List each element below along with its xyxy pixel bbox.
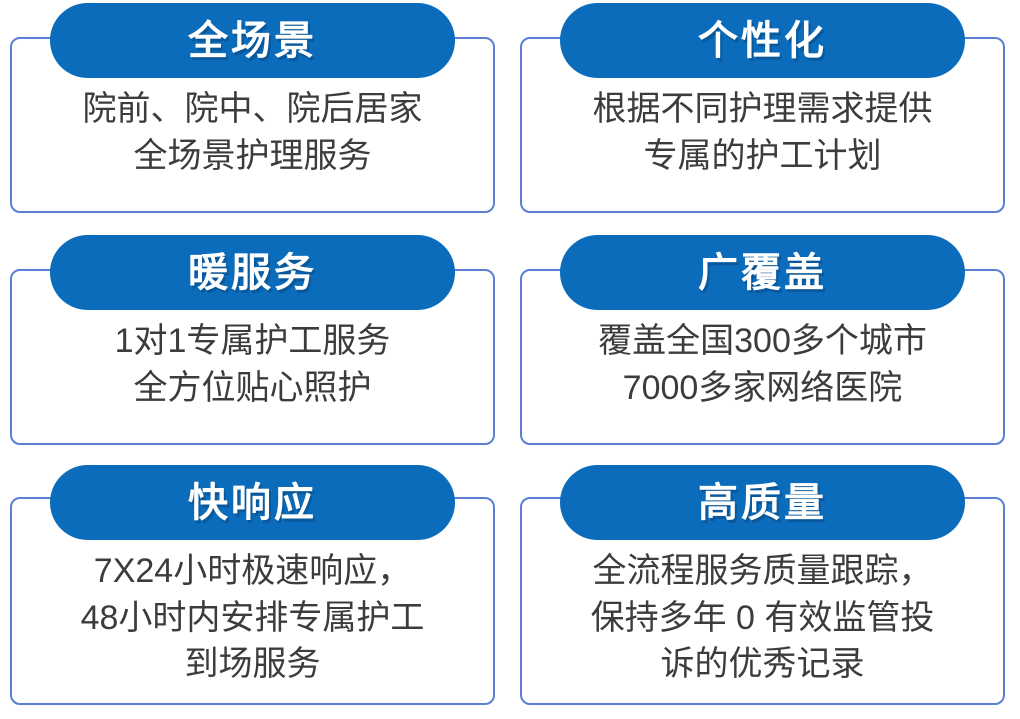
card-body: 1对1专属护工服务 全方位贴心照护 <box>10 312 495 445</box>
card-body-line: 到场服务 <box>185 641 321 688</box>
card-title-label: 全场景 <box>188 21 317 61</box>
feature-card-ge-xing-hua[interactable]: 个性化 根据不同护理需求提供 专属的护工计划 <box>510 0 1020 232</box>
card-body-line: 覆盖全国300多个城市 <box>598 318 927 365</box>
card-body-line: 保持多年 0 有效监管投 <box>591 595 935 642</box>
card-title-label: 个性化 <box>698 21 827 61</box>
card-title-pill[interactable]: 全场景 <box>50 3 455 78</box>
card-body-line: 全流程服务质量跟踪， <box>593 548 933 595</box>
card-title-pill[interactable]: 个性化 <box>560 3 965 78</box>
card-title-label: 广覆盖 <box>698 253 827 293</box>
card-body: 院前、院中、院后居家 全场景护理服务 <box>10 80 495 213</box>
card-title-label: 暖服务 <box>188 253 317 293</box>
card-title-pill[interactable]: 高质量 <box>560 465 965 540</box>
card-body-line: 48小时内安排专属护工 <box>81 595 425 642</box>
card-body-line: 专属的护工计划 <box>644 133 882 180</box>
card-body-line: 7X24小时极速响应， <box>94 548 411 595</box>
feature-card-gao-zhi-liang[interactable]: 高质量 全流程服务质量跟踪， 保持多年 0 有效监管投 诉的优秀记录 <box>510 464 1020 719</box>
card-body-line: 院前、院中、院后居家 <box>83 86 423 133</box>
card-body: 覆盖全国300多个城市 7000多家网络医院 <box>520 312 1005 445</box>
feature-card-guang-fu-gai[interactable]: 广覆盖 覆盖全国300多个城市 7000多家网络医院 <box>510 232 1020 464</box>
feature-card-nuan-fu-wu[interactable]: 暖服务 1对1专属护工服务 全方位贴心照护 <box>0 232 510 464</box>
card-body-line: 诉的优秀记录 <box>661 641 865 688</box>
card-title-pill[interactable]: 暖服务 <box>50 235 455 310</box>
card-body: 7X24小时极速响应， 48小时内安排专属护工 到场服务 <box>10 542 495 705</box>
card-body-line: 7000多家网络医院 <box>623 365 903 412</box>
card-title-pill[interactable]: 广覆盖 <box>560 235 965 310</box>
infographic-board: 全场景 院前、院中、院后居家 全场景护理服务 个性化 根据不同护理需求提供 专属… <box>0 0 1020 719</box>
card-title-pill[interactable]: 快响应 <box>50 465 455 540</box>
card-title-label: 高质量 <box>698 483 827 523</box>
card-body-line: 1对1专属护工服务 <box>115 318 391 365</box>
card-body: 根据不同护理需求提供 专属的护工计划 <box>520 80 1005 213</box>
feature-card-kuai-xiang-ying[interactable]: 快响应 7X24小时极速响应， 48小时内安排专属护工 到场服务 <box>0 464 510 719</box>
card-body-line: 全场景护理服务 <box>134 133 372 180</box>
card-body-line: 根据不同护理需求提供 <box>593 86 933 133</box>
card-body: 全流程服务质量跟踪， 保持多年 0 有效监管投 诉的优秀记录 <box>520 542 1005 705</box>
card-body-line: 全方位贴心照护 <box>134 365 372 412</box>
feature-card-quan-chang-jing[interactable]: 全场景 院前、院中、院后居家 全场景护理服务 <box>0 0 510 232</box>
feature-card-grid: 全场景 院前、院中、院后居家 全场景护理服务 个性化 根据不同护理需求提供 专属… <box>0 0 1020 719</box>
card-title-label: 快响应 <box>188 483 317 523</box>
